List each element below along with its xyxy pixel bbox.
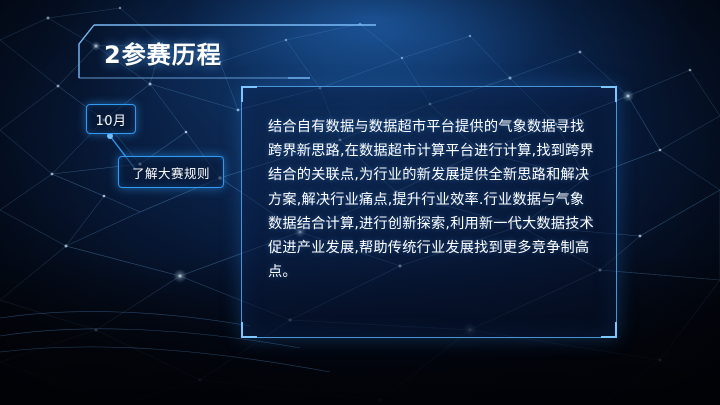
content-panel: 结合自有数据与数据超市平台提供的气象数据寻找跨界新思路,在数据超市计算平台进行计… [241, 86, 617, 338]
content-panel-text: 结合自有数据与数据超市平台提供的气象数据寻找跨界新思路,在数据超市计算平台进行计… [268, 115, 594, 284]
slide-canvas: 2参赛历程 10月 了解大赛规则 结合自有数据与数据超市平台提供的气象数据寻找跨… [0, 0, 720, 405]
contest-rules-label: 了解大赛规则 [132, 163, 210, 182]
panel-corner-bottom-right [601, 322, 617, 338]
contest-rules-button[interactable]: 了解大赛规则 [118, 156, 224, 188]
slide-title-text: 2参赛历程 [104, 35, 222, 70]
panel-corner-top-right [601, 86, 617, 102]
panel-corner-top-left [241, 86, 257, 102]
panel-corner-bottom-left [241, 322, 257, 338]
slide-title: 2参赛历程 [86, 30, 252, 74]
month-badge: 10月 [86, 104, 136, 134]
month-badge-label: 10月 [95, 110, 126, 129]
